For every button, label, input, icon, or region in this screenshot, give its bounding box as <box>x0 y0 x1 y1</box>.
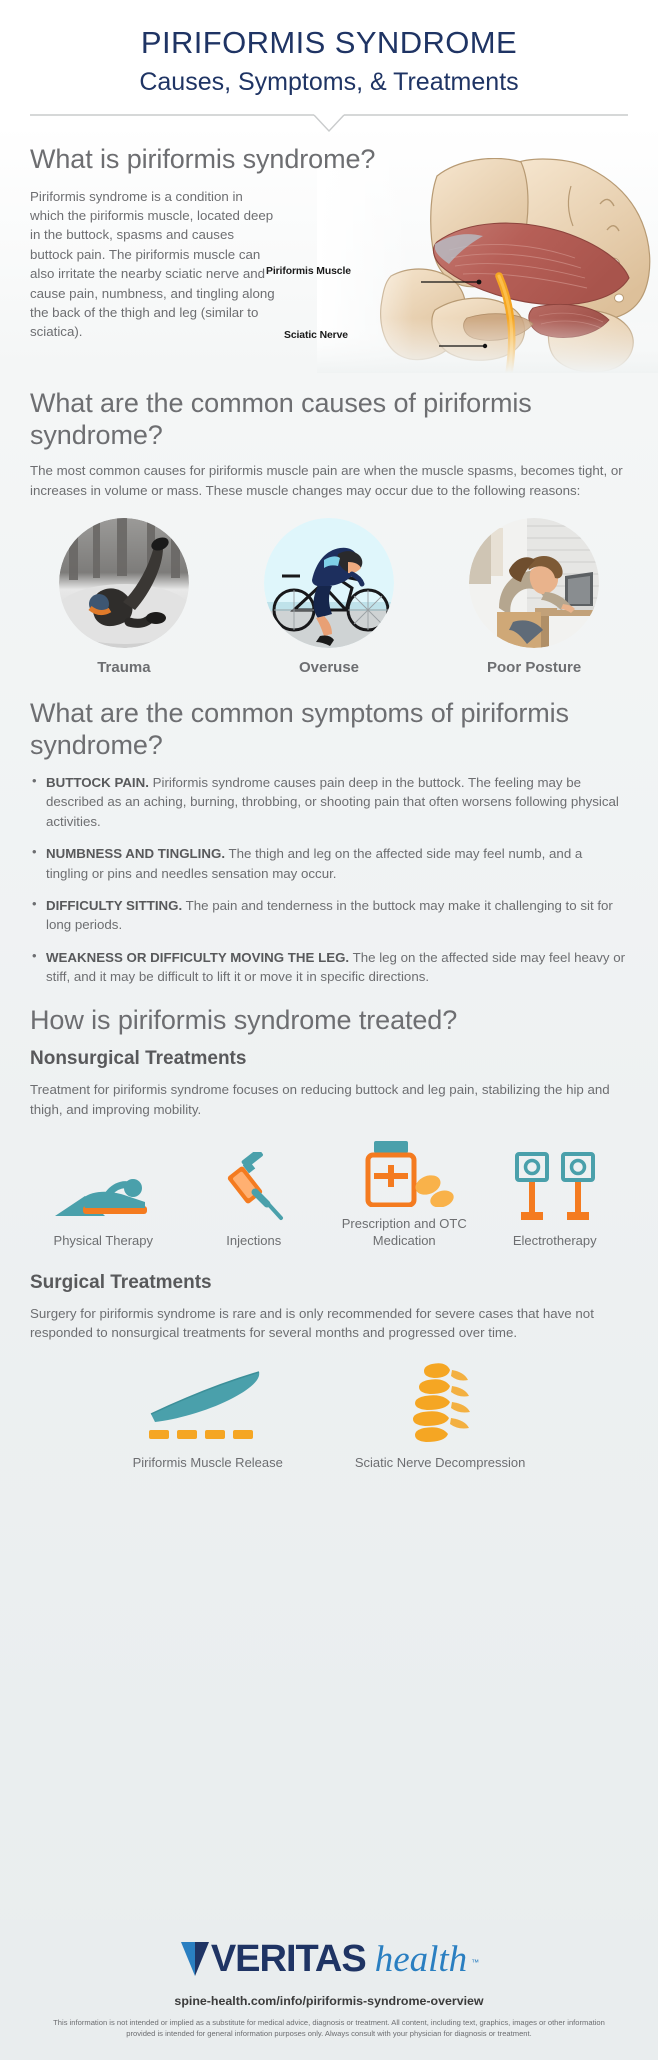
surgical-subheading: Surgical Treatments <box>30 1272 628 1294</box>
cause-label-trauma: Trauma <box>36 659 212 676</box>
treatment-label: Physical Therapy <box>32 1233 175 1250</box>
veritas-health-logo: VERITAS health ™ <box>0 1938 658 1981</box>
list-item: BUTTOCK PAIN. Piriformis syndrome causes… <box>30 773 628 831</box>
surgical-body: Surgery for piriformis syndrome is rare … <box>30 1304 628 1343</box>
footer-url[interactable]: spine-health.com/info/piriformis-syndrom… <box>0 1994 658 2008</box>
overuse-photo <box>264 518 394 648</box>
list-item: DIFFICULTY SITTING. The pain and tendern… <box>30 896 628 935</box>
scalpel-icon <box>133 1363 283 1447</box>
page-title: PIRIFORMIS SYNDROME <box>30 26 628 61</box>
poor-posture-photo <box>469 518 599 648</box>
section-treatments: How is piriformis syndrome treated? Nons… <box>0 1005 658 1470</box>
cause-label-overuse: Overuse <box>241 659 417 676</box>
electrotherapy-icon <box>483 1152 626 1224</box>
surgical-icons-row: Piriformis Muscle Release <box>30 1363 628 1470</box>
label-piriformis-muscle: Piriformis Muscle <box>266 266 351 277</box>
symptom-term: BUTTOCK PAIN. <box>46 775 149 790</box>
logo-chevron-icon <box>179 1940 209 1980</box>
nonsurgical-body: Treatment for piriformis syndrome focuse… <box>30 1080 628 1119</box>
section-what-is: What is piriformis syndrome? <box>0 144 658 374</box>
logo-secondary-text: health <box>375 1938 467 1981</box>
list-item: NUMBNESS AND TINGLING. The thigh and leg… <box>30 844 628 883</box>
logo-primary-text: VERITAS <box>211 1938 366 1981</box>
physical-therapy-icon <box>32 1152 175 1224</box>
what-is-body: Piriformis syndrome is a condition in wh… <box>30 187 280 342</box>
symptom-term: NUMBNESS AND TINGLING. <box>46 846 225 861</box>
treatment-physical-therapy: Physical Therapy <box>32 1152 175 1250</box>
logo-trademark: ™ <box>471 1958 479 1967</box>
footer-disclaimer: This information is not intended or impl… <box>0 2017 658 2040</box>
causes-body: The most common causes for piriformis mu… <box>30 461 628 500</box>
header: PIRIFORMIS SYNDROME Causes, Symptoms, & … <box>0 0 658 132</box>
symptoms-heading: What are the common symptoms of piriform… <box>30 698 628 762</box>
cause-poor-posture: Poor Posture <box>446 518 622 676</box>
label-sciatic-nerve: Sciatic Nerve <box>284 330 348 341</box>
divider-chevron-icon <box>30 114 628 132</box>
infographic-page: PIRIFORMIS SYNDROME Causes, Symptoms, & … <box>0 0 658 2060</box>
cause-label-poor-posture: Poor Posture <box>446 659 622 676</box>
what-is-heading: What is piriformis syndrome? <box>30 144 628 176</box>
page-subtitle: Causes, Symptoms, & Treatments <box>30 67 628 97</box>
trauma-photo <box>59 518 189 648</box>
nonsurgical-icons-row: Physical Therapy Injections <box>30 1135 628 1250</box>
list-item: WEAKNESS OR DIFFICULTY MOVING THE LEG. T… <box>30 948 628 987</box>
symptom-term: DIFFICULTY SITTING. <box>46 898 182 913</box>
surgery-nerve-decompression: Sciatic Nerve Decompression <box>355 1363 526 1470</box>
treatment-medication: Prescription and OTC Medication <box>333 1135 476 1250</box>
nonsurgical-subheading: Nonsurgical Treatments <box>30 1048 628 1070</box>
causes-row: Trauma <box>30 518 628 676</box>
causes-heading: What are the common causes of piriformis… <box>30 388 628 452</box>
surgery-label: Piriformis Muscle Release <box>133 1455 283 1470</box>
pill-bottle-icon <box>333 1135 476 1207</box>
pelvis-anatomy-illustration <box>317 158 658 373</box>
surgery-label: Sciatic Nerve Decompression <box>355 1455 526 1470</box>
section-symptoms: What are the common symptoms of piriform… <box>0 698 658 986</box>
symptom-term: WEAKNESS OR DIFFICULTY MOVING THE LEG. <box>46 950 349 965</box>
cause-trauma: Trauma <box>36 518 212 676</box>
treatment-label: Prescription and OTC Medication <box>333 1216 476 1250</box>
treatment-label: Electrotherapy <box>483 1233 626 1250</box>
header-divider <box>30 114 628 132</box>
footer: VERITAS health ™ spine-health.com/info/p… <box>0 1920 658 2060</box>
syringe-icon <box>182 1152 325 1224</box>
treatment-injections: Injections <box>182 1152 325 1250</box>
treatments-heading: How is piriformis syndrome treated? <box>30 1005 628 1037</box>
symptoms-list: BUTTOCK PAIN. Piriformis syndrome causes… <box>30 773 628 987</box>
section-causes: What are the common causes of piriformis… <box>0 388 658 677</box>
surgery-muscle-release: Piriformis Muscle Release <box>133 1363 283 1470</box>
cause-overuse: Overuse <box>241 518 417 676</box>
spine-icon <box>355 1363 526 1447</box>
treatment-electrotherapy: Electrotherapy <box>483 1152 626 1250</box>
treatment-label: Injections <box>182 1233 325 1250</box>
